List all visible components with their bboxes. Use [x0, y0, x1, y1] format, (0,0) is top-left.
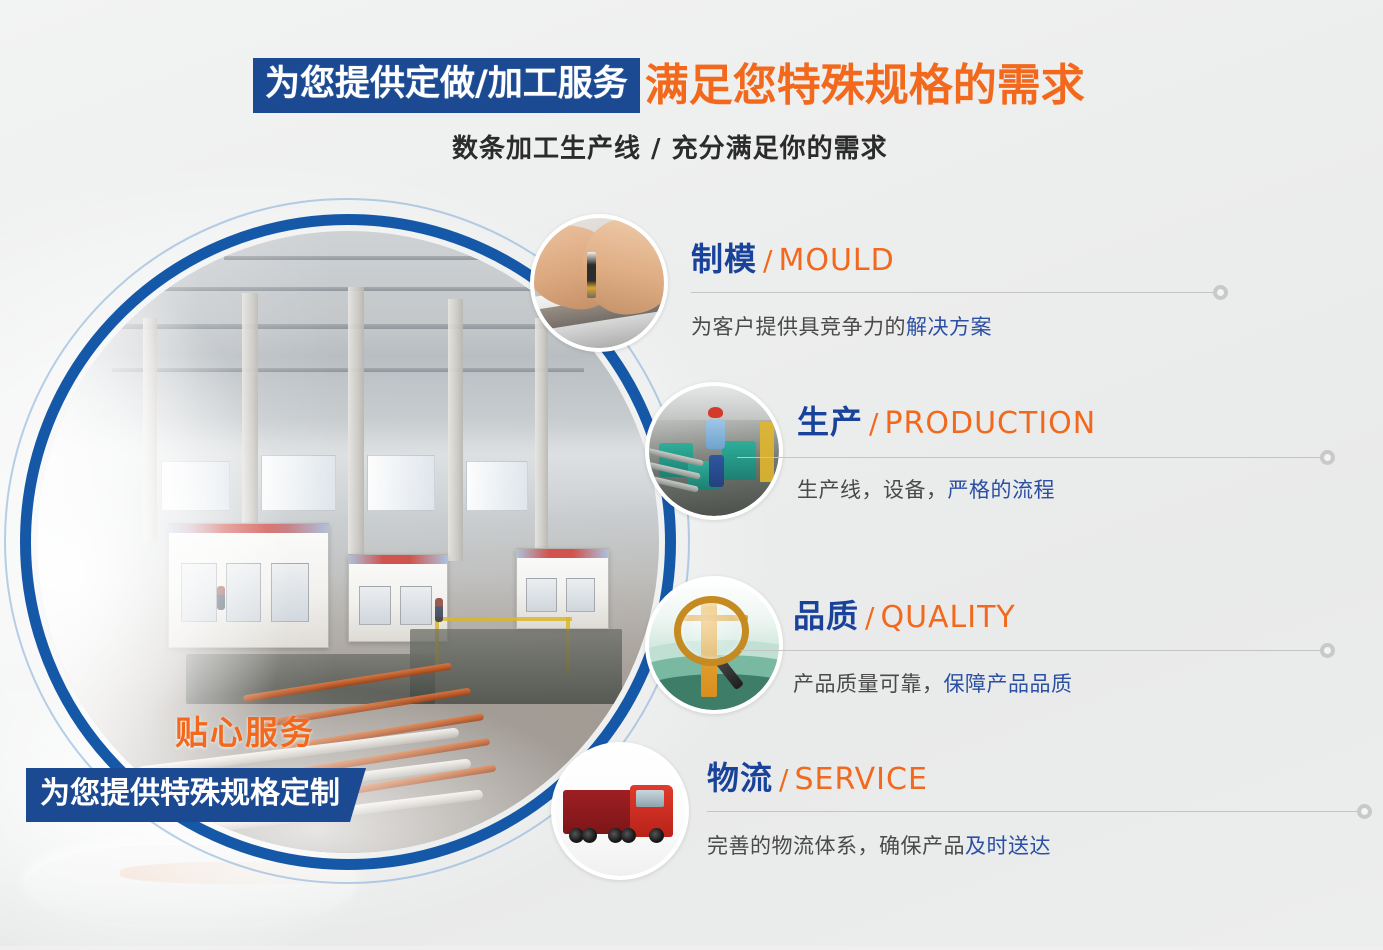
feature-desc-plain: 产品质量可靠，: [793, 672, 944, 696]
feature-title-en: SERVICE: [794, 762, 927, 797]
feature-title-en: PRODUCTION: [884, 406, 1096, 441]
feature-endpoint-dot: [1320, 450, 1335, 465]
truck-icon: [551, 742, 689, 880]
infographic-banner: 为您提供定做/加工服务 满足您特殊规格的需求 数条加工生产线 / 充分满足你的需…: [0, 0, 1383, 946]
feature-title-en: MOULD: [778, 243, 894, 278]
magnifier-icon: [645, 576, 783, 714]
feature-desc-highlight: 及时送达: [965, 834, 1051, 858]
feature-divider: [737, 457, 1325, 458]
feature-desc-plain: 为客户提供具竞争力的: [691, 315, 906, 339]
feature-title-cn: 生产: [797, 403, 863, 441]
feature-desc-production: 生产线，设备，严格的流程: [797, 474, 1055, 504]
factory-worker-icon: [645, 382, 783, 520]
headline: 为您提供定做/加工服务 满足您特殊规格的需求: [253, 58, 1085, 113]
subtitle: 数条加工生产线 / 充分满足你的需求: [452, 128, 888, 165]
hand-scribe-icon: [530, 214, 668, 352]
feature-desc-service: 完善的物流体系，确保产品及时送达: [707, 830, 1051, 860]
feature-divider: [741, 650, 1325, 651]
feature-title-sep: /: [763, 244, 772, 277]
feature-endpoint-dot: [1357, 804, 1372, 819]
feature-divider: [691, 292, 1218, 293]
feature-title-quality: 品质/QUALITY: [793, 600, 1016, 633]
feature-desc-highlight: 解决方案: [906, 315, 992, 339]
feature-title-mould: 制模/MOULD: [691, 243, 895, 276]
feature-divider: [707, 811, 1362, 812]
hero-overlay-banner: 为您提供特殊规格定制: [26, 768, 366, 822]
feature-title-sep: /: [865, 601, 874, 634]
feature-desc-highlight: 严格的流程: [948, 478, 1056, 502]
feature-desc-quality: 产品质量可靠，保障产品品质: [793, 668, 1073, 698]
feature-desc-highlight: 保障产品品质: [944, 672, 1073, 696]
feature-desc-plain: 完善的物流体系，确保产品: [707, 834, 965, 858]
feature-title-service: 物流/SERVICE: [707, 762, 928, 795]
feature-title-en: QUALITY: [880, 600, 1015, 635]
feature-title-cn: 品质: [793, 597, 859, 635]
feature-title-production: 生产/PRODUCTION: [797, 406, 1096, 439]
hero-overlay-title: 贴心服务: [175, 706, 315, 754]
feature-title-cn: 物流: [707, 759, 773, 797]
feature-title-cn: 制模: [691, 240, 757, 278]
feature-title-sep: /: [779, 763, 788, 796]
headline-accent: 满足您特殊规格的需求: [645, 64, 1085, 108]
feature-desc-mould: 为客户提供具竞争力的解决方案: [691, 311, 992, 341]
feature-desc-plain: 生产线，设备，: [797, 478, 948, 502]
feature-endpoint-dot: [1320, 643, 1335, 658]
feature-title-sep: /: [869, 407, 878, 440]
feature-endpoint-dot: [1213, 285, 1228, 300]
headline-badge: 为您提供定做/加工服务: [253, 58, 640, 113]
